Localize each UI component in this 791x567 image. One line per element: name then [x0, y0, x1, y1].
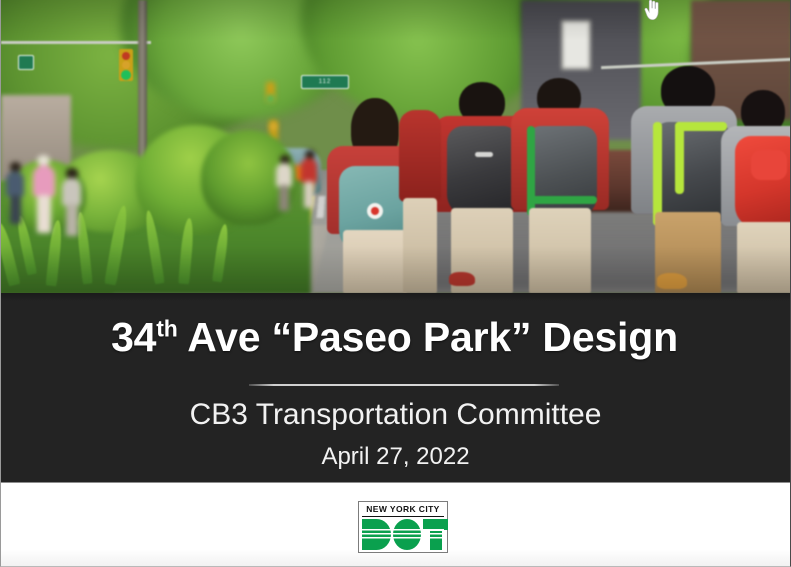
backpack-neon-green: [653, 122, 731, 226]
shoe-red: [449, 272, 475, 286]
backpack-red-panel: [751, 150, 787, 180]
header-photo: 112: [1, 0, 791, 293]
traffic-signal-distant-1-green: [267, 95, 274, 102]
torso: [276, 163, 292, 187]
pedestrian-distant-1: [6, 162, 26, 224]
title-number: 34: [111, 314, 156, 360]
logo-inner: NEW YORK CITY: [361, 504, 445, 550]
backpack-logo-dot: [371, 207, 379, 215]
logo-dot-letters: [362, 519, 444, 550]
building-window: [561, 20, 591, 70]
student-partial-left: [399, 110, 443, 293]
legs: [37, 195, 51, 233]
legs: [10, 195, 21, 224]
backpack-neon-trim-top: [675, 122, 727, 131]
pants-khaki: [403, 198, 437, 293]
backpack-gray-green: [527, 126, 597, 218]
backpack-neon-trim-loop: [675, 122, 684, 194]
legs: [66, 204, 78, 236]
traffic-signal-distant-2-amber: [270, 123, 277, 130]
pants-khaki: [737, 222, 791, 293]
traffic-signal-red-lamp: [122, 52, 130, 60]
traffic-signal-green-lamp: [121, 70, 131, 80]
hoodie-red: [399, 110, 441, 202]
title-ordinal-suffix: th: [156, 315, 177, 341]
student-green-trim-backpack: [511, 78, 611, 293]
title-rest: Ave “Paseo Park” Design: [178, 314, 678, 360]
subtitle-text: CB3 Transportation Committee: [190, 398, 602, 432]
student-red-backpack: [721, 90, 791, 293]
shoe-tan: [657, 273, 687, 289]
pants-khaki: [343, 230, 407, 293]
signal-mast-arm-left: [1, 41, 151, 44]
pedestrian-distant-3: [301, 150, 319, 208]
signal-pole-left: [138, 0, 147, 170]
logo-rule: [362, 516, 444, 517]
torso: [6, 171, 24, 197]
page-title: 34th Ave “Paseo Park” Design: [1, 314, 791, 361]
title-band: 34th Ave “Paseo Park” Design CB3 Transpo…: [1, 293, 791, 482]
presentation-date: April 27, 2022: [1, 443, 791, 471]
pedestrian-distant-gray: [61, 168, 83, 236]
subtitle: CB3 Transportation Committee: [1, 398, 791, 432]
pedestrian-distant-2: [276, 155, 294, 211]
logo-stripes: [362, 529, 444, 540]
legs: [279, 185, 289, 211]
backpack-black: [447, 126, 519, 218]
street-name-sign: 112: [301, 75, 349, 89]
date-text: April 27, 2022: [321, 443, 469, 471]
pedestrian-distant-pink: [31, 155, 57, 235]
backpack-reflector: [475, 152, 493, 157]
legs: [304, 181, 314, 208]
title-slide: 112: [0, 0, 791, 567]
title-divider: [249, 384, 559, 386]
backpack-green-trim-h: [527, 196, 597, 204]
slide-footer: NEW YORK CITY: [1, 482, 791, 567]
traffic-signal-amber-lamp: [122, 61, 130, 69]
nyc-dot-logo: NEW YORK CITY: [358, 501, 448, 553]
band-top-fade: [1, 293, 791, 301]
street-name-sign-left: [18, 55, 34, 70]
pants-khaki: [529, 208, 591, 293]
torso: [62, 178, 81, 206]
backpack-neon-trim-left: [653, 122, 662, 226]
torso: [301, 158, 317, 183]
torso: [33, 165, 55, 197]
logo-city-text: NEW YORK CITY: [361, 504, 445, 515]
